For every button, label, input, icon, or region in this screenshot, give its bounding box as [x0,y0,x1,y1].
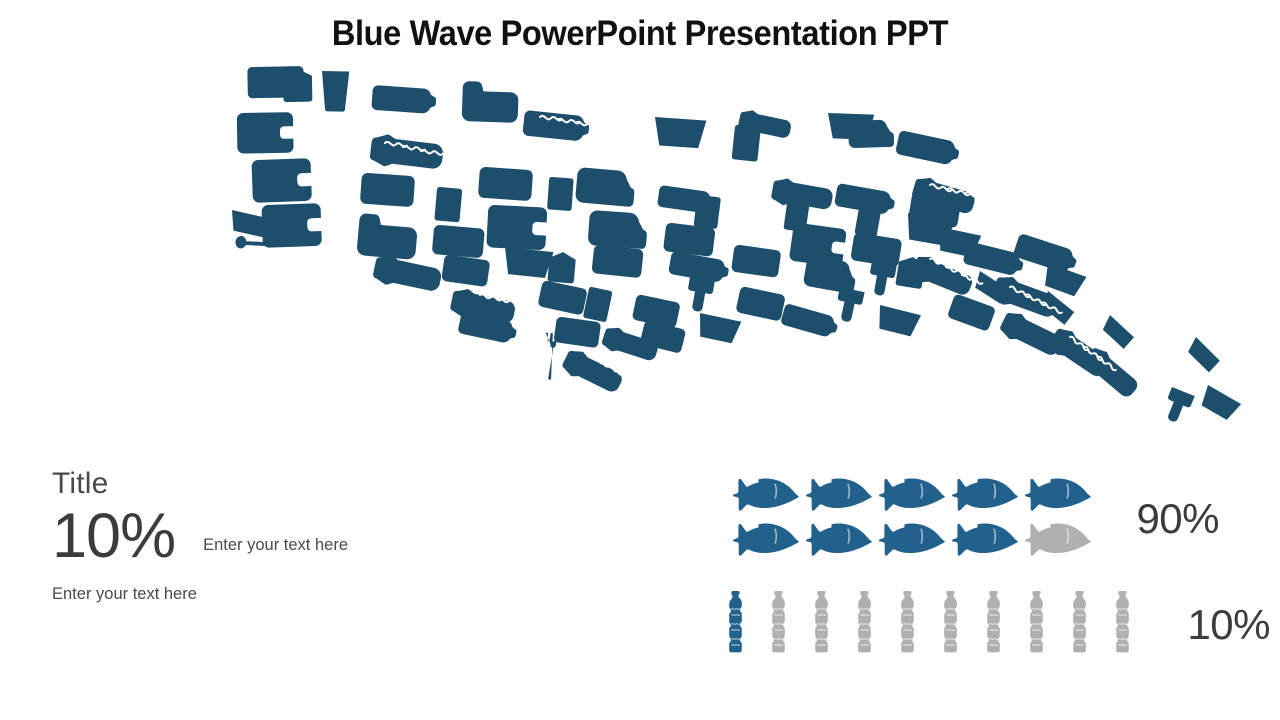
trash-item-bottleH [371,85,437,114]
trash-item-jug [486,205,547,251]
fish-icon [879,520,945,558]
trash-item-tub [947,293,996,332]
left-block-note: Enter your text here [203,516,348,555]
fish-icon [952,475,1018,513]
bottle-icon [1069,591,1090,654]
fish-icon [952,520,1018,558]
trash-item-tub [478,167,533,202]
trash-item-milk [575,167,636,207]
trash-item-tub [735,286,785,322]
trash-item-wedge [1099,315,1138,351]
whale-trash-artwork [0,55,1280,455]
bottle-icon [768,591,789,654]
trash-item-bottleH [522,110,590,142]
trash-item-tray [1198,385,1242,422]
fish-icon [806,520,872,558]
pictogram-icon-filled [725,591,768,656]
trash-item-handleBottle [356,213,418,260]
trash-item-bag [1160,387,1195,426]
trash-item-bag [833,287,864,324]
fish-icon [1025,520,1091,558]
fish-icon [879,475,945,513]
pictogram-icon-empty [1025,520,1098,561]
trash-item-tray [874,305,921,338]
left-info-block: Title 10% Enter your text here Enter you… [52,468,472,604]
page-title: Blue Wave PowerPoint Presentation PPT [45,14,1235,54]
bottle-icon [1112,591,1133,654]
bottle-percent-label: 10% [1187,604,1270,646]
trash-item-milk [848,119,894,148]
fish-icon [733,520,799,558]
pictogram-icon-filled [952,520,1025,561]
pictogram-icon-empty [1069,591,1112,656]
trash-item-tray [502,247,553,279]
pictogram-icon-empty [1112,591,1155,656]
trash-item-can [583,286,613,322]
bottle-icon [1026,591,1047,654]
fish-icon [733,475,799,513]
pictogram-icon-empty [811,591,854,656]
pictogram-icon-filled [1025,475,1098,516]
trash-item-milk [588,210,649,249]
bottle-rib [516,302,538,309]
left-block-percent-row: 10% Enter your text here [52,502,472,570]
pictogram-row [733,475,1098,516]
trash-item-jug [237,112,294,154]
trash-item-tub [441,254,490,287]
left-block-title: Title [52,468,472,500]
pictogram-icon-empty [897,591,940,656]
bottle-icon [854,591,875,654]
pictogram-icon-empty [940,591,983,656]
pictogram-icon-empty [1026,591,1069,656]
pictogram-icon-filled [879,520,952,561]
trash-item-jug [261,203,321,248]
trash-item-bag [684,277,714,313]
trash-item-tray [653,117,706,149]
fish-icon-grid [733,475,1098,561]
trash-item-jug [251,158,311,203]
trash-item-can [547,177,574,211]
trash-item-tub [663,222,716,257]
trash-item-bottleH [895,130,961,167]
pictogram-icon-filled [733,475,806,516]
pictogram-icon-filled [952,475,1025,516]
pictogram-icon-filled [806,475,879,516]
pictogram-icon-empty [854,591,897,656]
bottle-pictogram-chart: 10% [725,591,1270,656]
trash-item-can [694,195,721,229]
pictogram-icon-filled [806,520,879,561]
bottle-icon-grid [725,591,1155,656]
trash-item-tub [537,280,587,316]
trash-item-neckBottle [369,133,445,173]
trash-item-handleBottle [462,81,519,123]
bottle-icon [811,591,832,654]
trash-item-tub [360,173,415,208]
pictogram-icon-filled [733,520,806,561]
trash-item-bottleH [780,303,840,339]
trash-item-bag [866,261,896,297]
trash-item-cup [321,71,349,112]
fish-icon [1025,475,1091,513]
trash-items-group [232,66,1241,425]
trash-item-can [434,187,462,223]
left-block-subtext: Enter your text here [52,585,472,604]
trash-item-bottleH [1013,233,1080,275]
trash-item-milk [803,255,859,294]
trash-item-tub [553,316,601,348]
trash-item-can [783,200,809,233]
bottle-icon [983,591,1004,654]
fish-icon [806,475,872,513]
trash-item-tub [591,244,643,278]
fish-pictogram-chart: 90% [733,475,1219,561]
pictogram-icon-empty [983,591,1026,656]
trash-item-tray [695,313,741,344]
bottle-icon [897,591,918,654]
trash-item-wedge [1184,337,1224,374]
bottle-icon [725,591,746,654]
pictogram-icon-filled [879,475,952,516]
pictogram-row [725,591,1155,656]
pictogram-row [733,520,1098,561]
bottle-icon [940,591,961,654]
fish-percent-label: 90% [1136,498,1219,540]
pictogram-icon-empty [768,591,811,656]
left-block-percent: 10% [52,502,175,570]
trash-item-tub [432,224,485,258]
trash-item-tub [731,244,781,278]
